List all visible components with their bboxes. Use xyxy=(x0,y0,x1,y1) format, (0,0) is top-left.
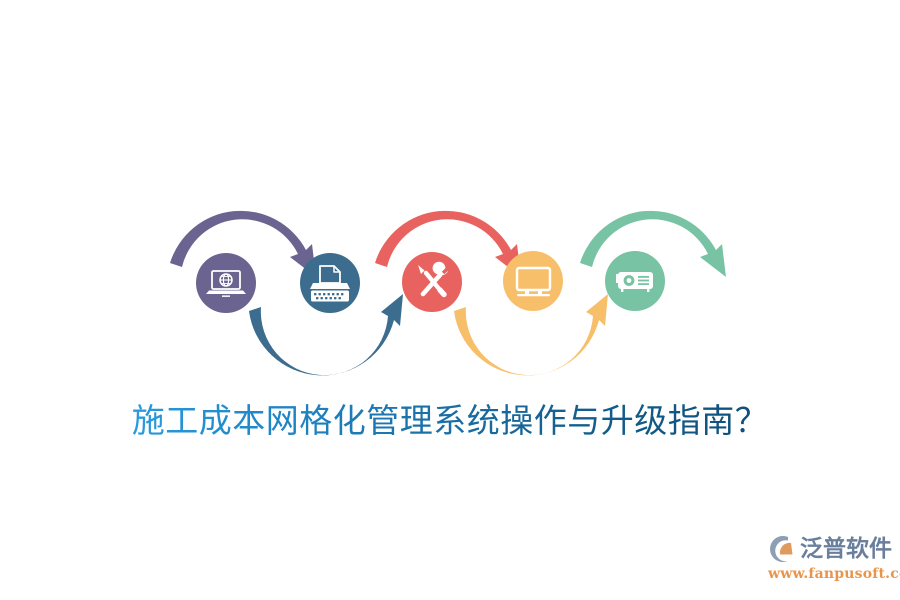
step-circle-2 xyxy=(300,253,360,313)
brand-name: 泛普软件 xyxy=(800,535,892,563)
step-circle-4 xyxy=(503,251,563,311)
page-title: 施工成本网格化管理系统操作与升级指南？ xyxy=(132,398,769,444)
watermark-logo: 泛普软件 www.fanpusoft.com xyxy=(768,533,892,587)
logo-row: 泛普软件 xyxy=(768,533,892,565)
page-root: 施工成本网格化管理系统操作与升级指南？ 泛普软件 www.fanpusoft.c… xyxy=(0,0,900,600)
projector-icon xyxy=(616,272,653,292)
step-circle-5 xyxy=(605,251,665,311)
step-circle-1 xyxy=(196,253,256,313)
title-block: 施工成本网格化管理系统操作与升级指南？ xyxy=(0,398,900,444)
brand-url: www.fanpusoft.com xyxy=(768,566,892,583)
step-circle-3 xyxy=(402,252,462,312)
fanpu-logo-icon xyxy=(768,535,798,563)
process-flow-infographic xyxy=(160,195,740,380)
